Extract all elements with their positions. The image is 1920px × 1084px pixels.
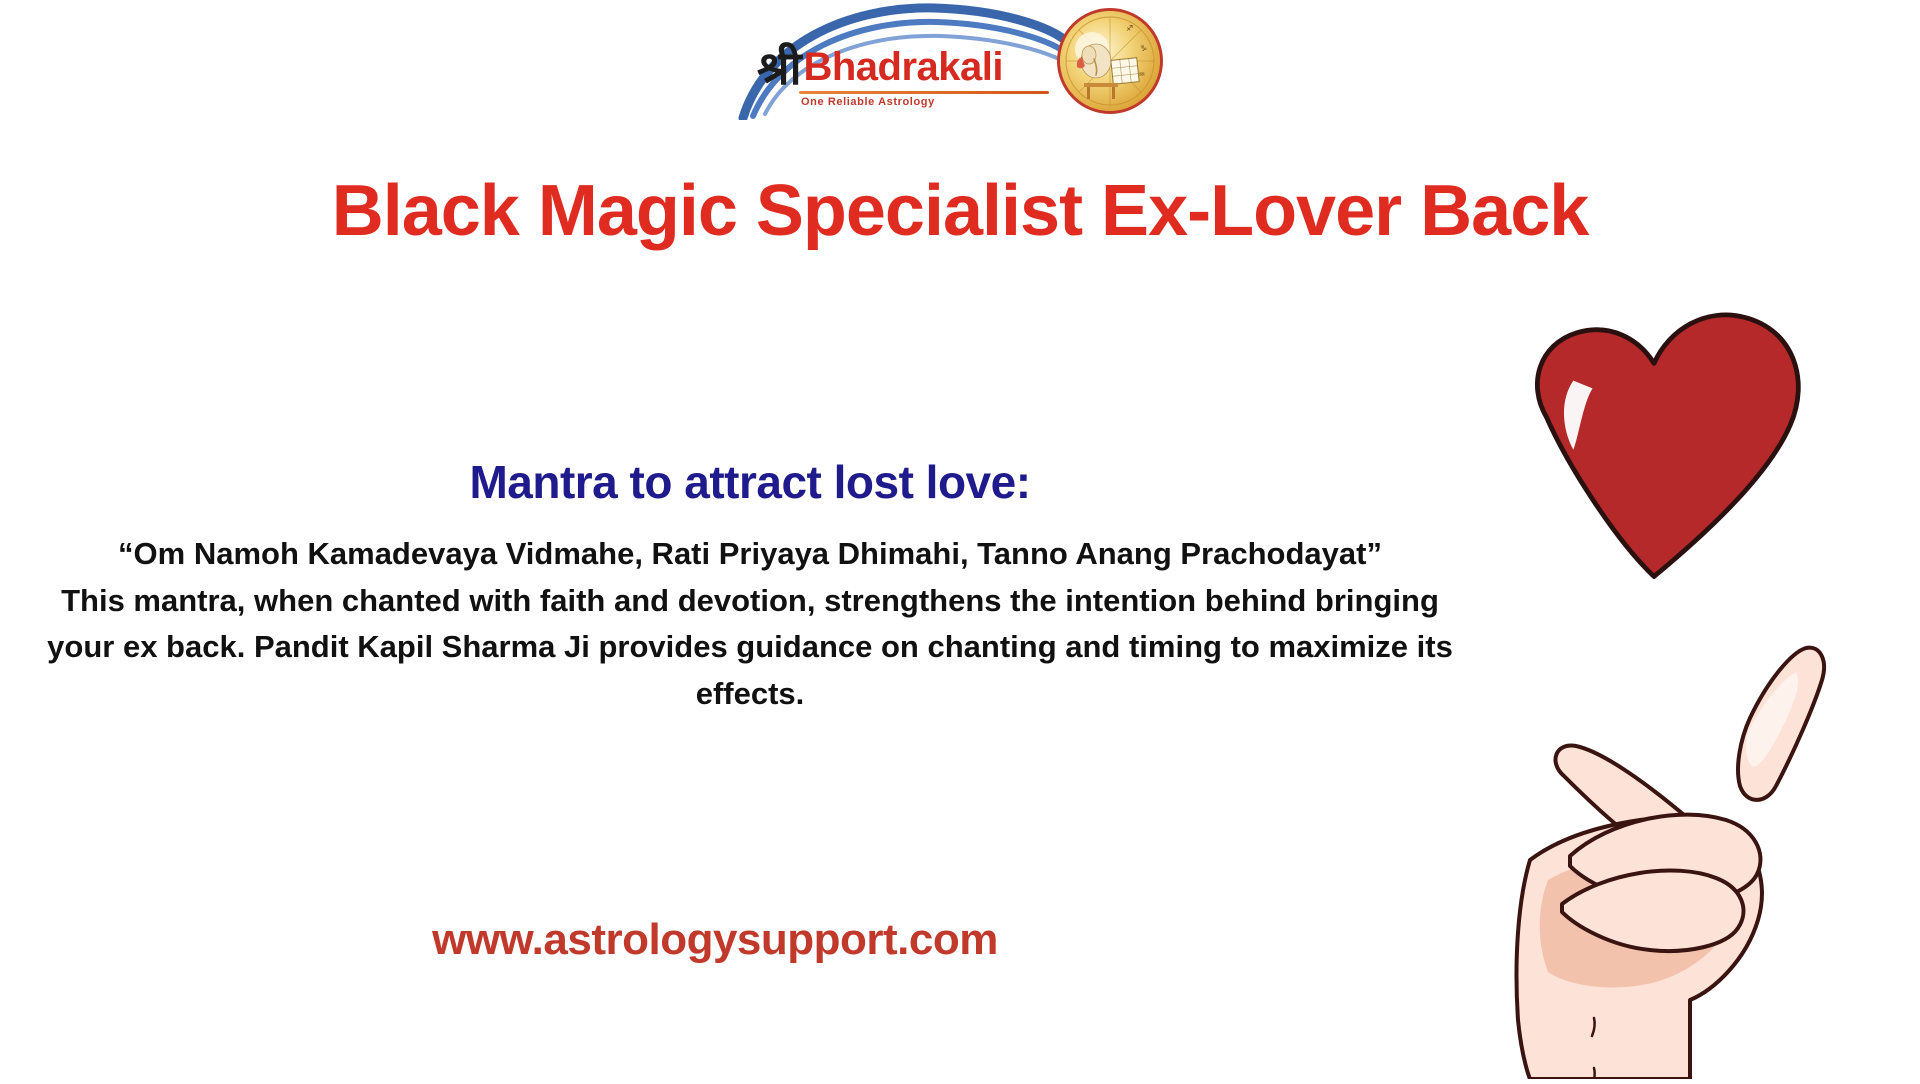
content-block: Mantra to attract lost love: “Om Namoh K… [0, 455, 1500, 717]
hand-holding-heart-illustration [1500, 300, 1920, 1079]
logo-header: श्री Bhadrakali One Reliable Astrology [0, 0, 1920, 140]
mantra-heading: Mantra to attract lost love: [0, 455, 1500, 509]
ganesha-emblem-artwork: ♐ ♑ ♒ [1060, 11, 1160, 111]
thumb [1555, 745, 1704, 864]
finger-highlight [1746, 672, 1798, 767]
palm-shading [1540, 854, 1733, 987]
ganesha-emblem-icon: ♐ ♑ ♒ [1057, 8, 1163, 114]
svg-text:♑: ♑ [1140, 44, 1147, 53]
page-title: Black Magic Specialist Ex-Lover Back [0, 172, 1920, 251]
curled-finger-2 [1562, 870, 1743, 951]
svg-text:♐: ♐ [1126, 24, 1133, 33]
knuckle-creases [1592, 1018, 1678, 1079]
mantra-quote: “Om Namoh Kamadevaya Vidmahe, Rati Priya… [20, 531, 1480, 578]
brand-name: Bhadrakali [803, 47, 1003, 87]
body-paragraph: This mantra, when chanted with faith and… [20, 578, 1480, 718]
logo-wordmark: श्री Bhadrakali One Reliable Astrology [757, 26, 1077, 126]
curled-finger-1 [1570, 815, 1760, 904]
brand-tagline: One Reliable Astrology [801, 96, 935, 108]
logo-divider [799, 91, 1049, 94]
brand-logo[interactable]: श्री Bhadrakali One Reliable Astrology [735, 0, 1185, 140]
website-url[interactable]: www.astrologysupport.com [0, 915, 1430, 965]
heart-icon [1537, 315, 1798, 577]
hand-heart-artwork [1500, 300, 1920, 1079]
palm [1517, 818, 1762, 1079]
index-finger [1738, 648, 1824, 800]
shri-glyph-icon: श्री [757, 45, 801, 91]
